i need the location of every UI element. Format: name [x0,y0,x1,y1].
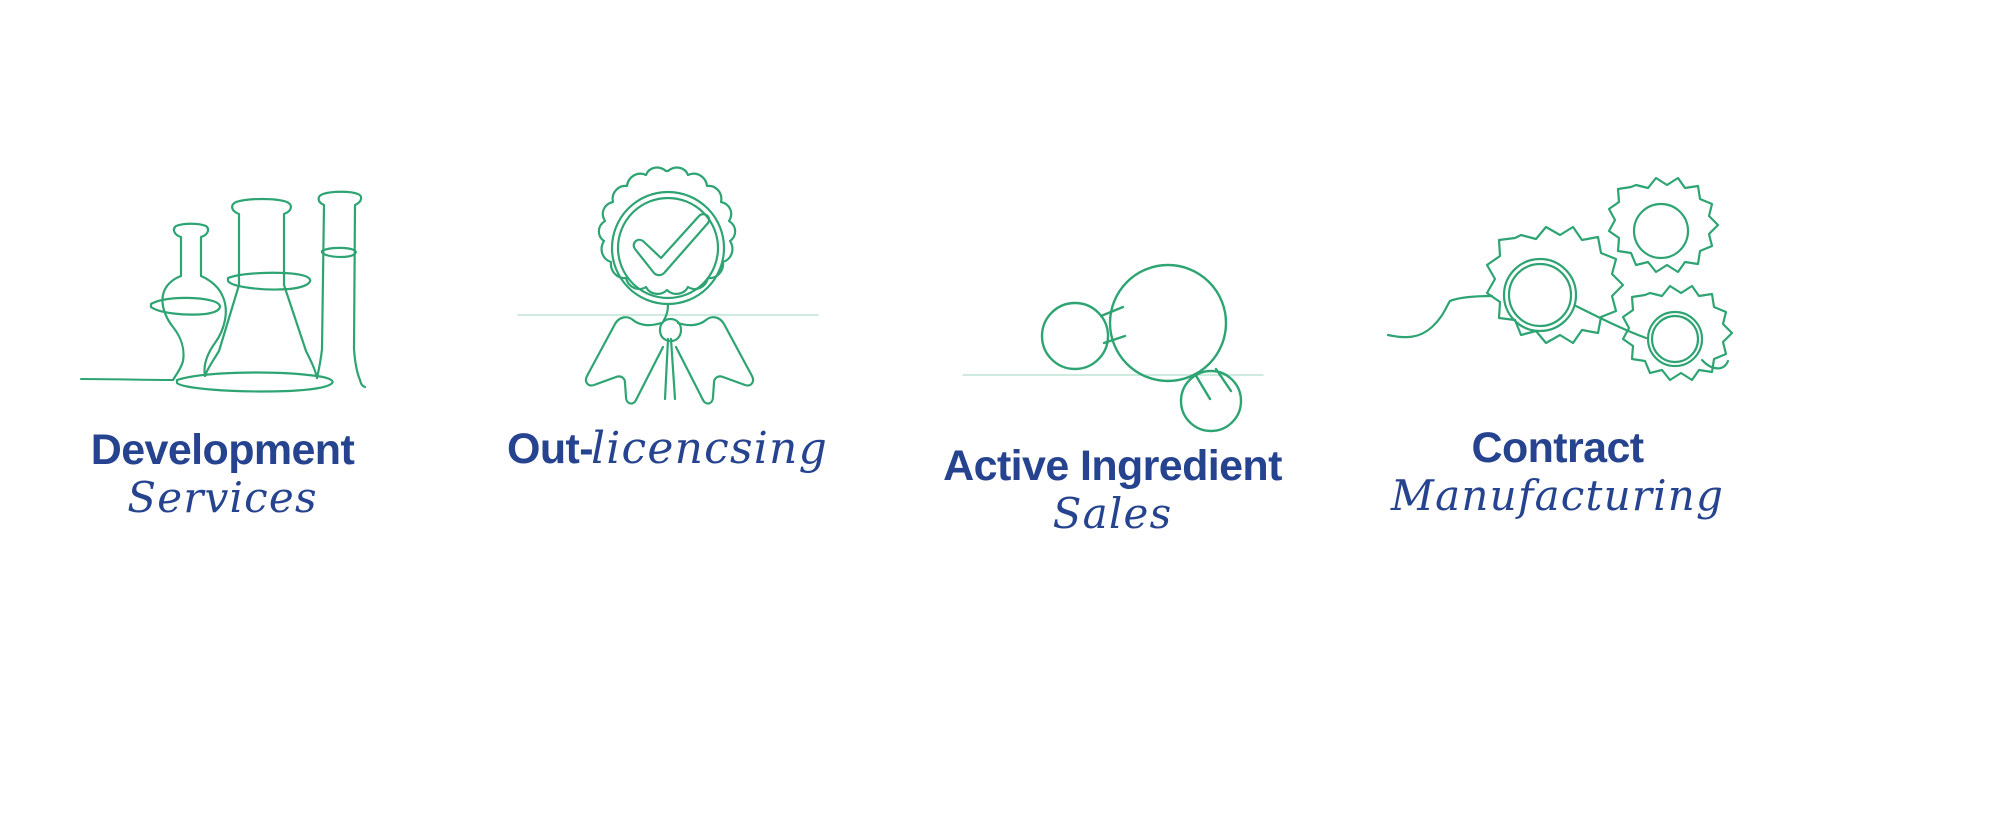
service-title: Active Ingredient [890,445,1335,489]
service-card-text: Development Services [0,429,445,519]
service-title-bold: Out- [507,425,593,473]
service-title: Out-licencsing [445,427,890,472]
service-card-development-services[interactable]: Development Services [0,0,445,620]
molecule-icon [948,188,1278,433]
service-card-out-licencsing[interactable]: Out-licencsing [445,0,890,620]
service-subtitle-script: Manufacturing [1391,471,1724,520]
service-card-contract-manufacturing[interactable]: Contract Manufacturing [1335,0,1780,620]
service-title-bold: Active Ingredient [943,442,1282,490]
service-subtitle: Services [0,477,445,519]
service-subtitle-script: Services [127,473,317,522]
services-icon-row: Development Services [0,0,2000,825]
laboratory-glassware-icon [58,168,388,413]
service-subtitle: Sales [890,493,1335,535]
service-card-list: Development Services [0,0,2000,620]
service-title-script: licencsing [591,423,828,474]
service-title-bold: Development [91,426,354,474]
service-subtitle: Manufacturing [1335,475,1780,517]
service-card-text: Active Ingredient Sales [890,445,1335,535]
service-subtitle-script: Sales [1053,489,1173,538]
gears-icon [1393,160,1723,405]
service-card-text: Out-licencsing [445,427,890,472]
service-title: Development [0,429,445,473]
service-card-text: Contract Manufacturing [1335,427,1780,517]
service-title: Contract [1335,427,1780,471]
service-card-active-ingredient-sales[interactable]: Active Ingredient Sales [890,0,1335,620]
award-rosette-check-icon [503,158,833,403]
service-title-bold: Contract [1472,424,1644,472]
